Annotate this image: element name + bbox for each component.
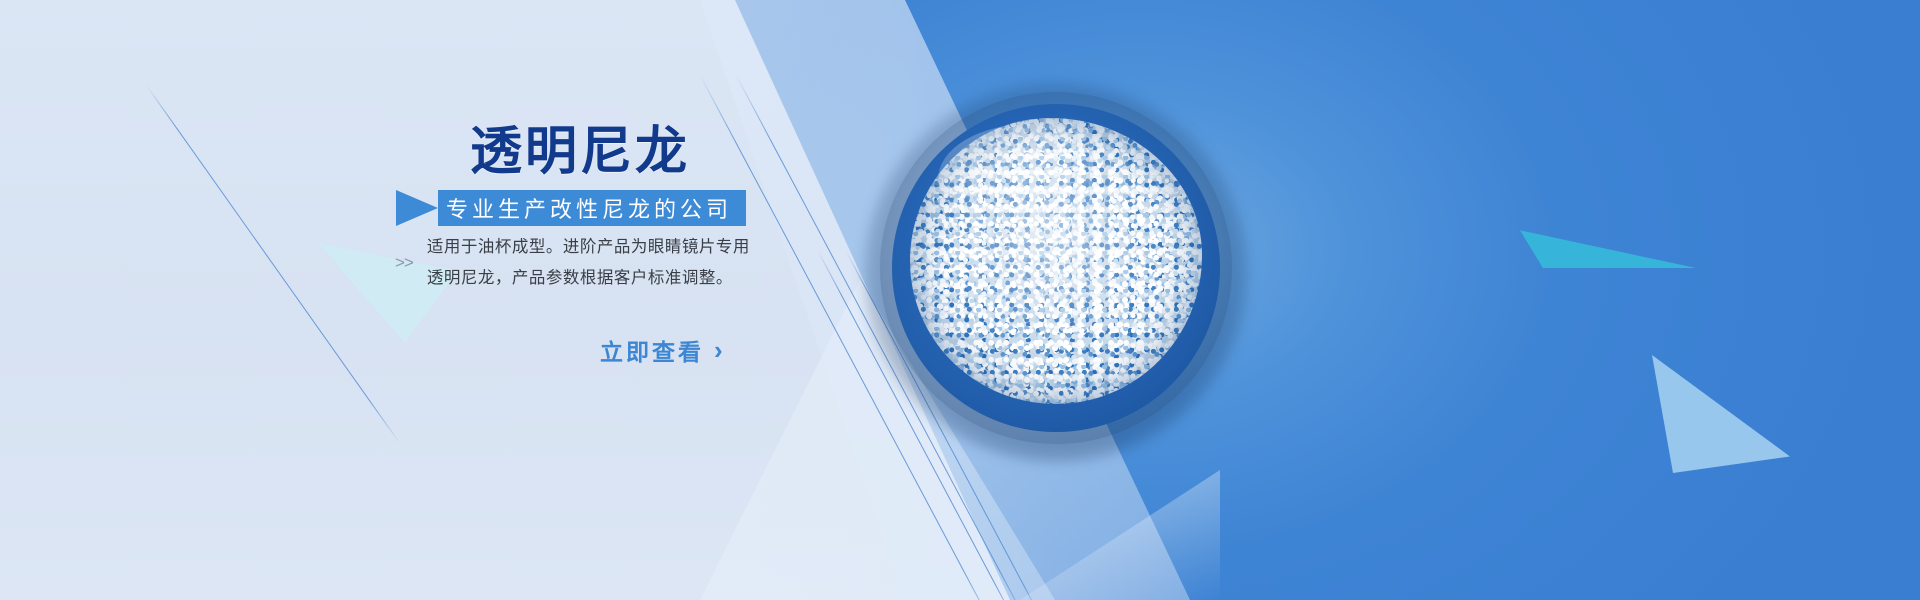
- nylon-pellets: [910, 118, 1202, 404]
- description-block: >> 适用于油杯成型。进阶产品为眼睛镜片专用 透明尼龙，产品参数根据客户标准调整…: [395, 232, 750, 293]
- dish-interior: [892, 104, 1220, 432]
- slogan-ribbon: 专业生产改性尼龙的公司: [396, 190, 746, 226]
- description-line-2: 透明尼龙，产品参数根据客户标准调整。: [427, 263, 750, 294]
- ribbon-arrow-icon: [396, 190, 438, 226]
- hero-banner: 透明尼龙 专业生产改性尼龙的公司 >> 适用于油杯成型。进阶产品为眼睛镜片专用 …: [0, 0, 1920, 600]
- chevron-right-icon: ›: [714, 337, 723, 363]
- description-line-1: 适用于油杯成型。进阶产品为眼睛镜片专用: [427, 232, 750, 263]
- slogan-ribbon-label: 专业生产改性尼龙的公司: [438, 190, 746, 226]
- view-now-button[interactable]: 立即查看 ›: [600, 333, 723, 367]
- double-chevron-icon: >>: [395, 253, 413, 273]
- banner-headline: 透明尼龙: [470, 126, 690, 178]
- view-now-label: 立即查看: [600, 333, 704, 367]
- banner-content: 透明尼龙 专业生产改性尼龙的公司 >> 适用于油杯成型。进阶产品为眼睛镜片专用 …: [0, 0, 900, 600]
- description-text: 适用于油杯成型。进阶产品为眼睛镜片专用 透明尼龙，产品参数根据客户标准调整。: [427, 232, 750, 293]
- product-photo-petri-dish: [880, 92, 1232, 444]
